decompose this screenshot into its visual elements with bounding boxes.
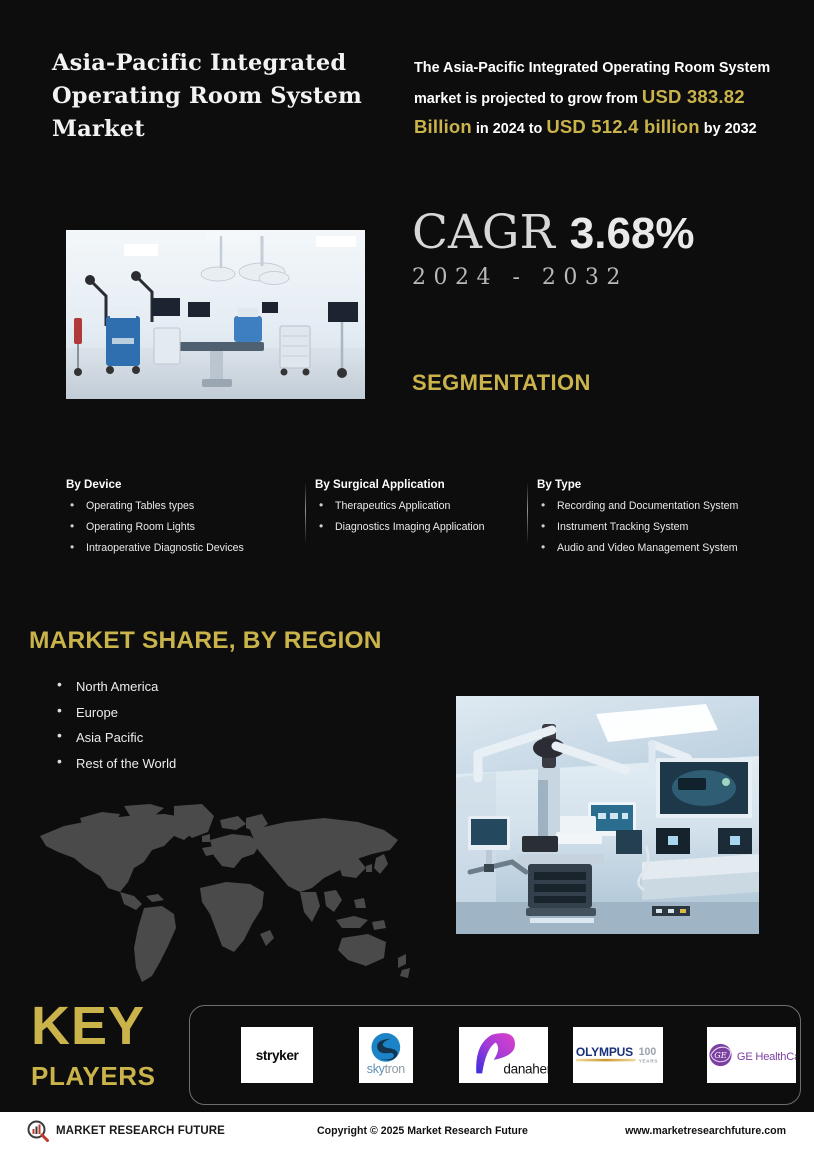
- segment-heading: By Device: [66, 478, 306, 491]
- market-share-title: MARKET SHARE, BY REGION: [29, 627, 382, 655]
- svg-text:skytron: skytron: [367, 1062, 405, 1076]
- world-map: [24, 796, 438, 984]
- footer-url[interactable]: www.marketresearchfuture.com: [625, 1125, 786, 1137]
- cagr-label: CAGR: [412, 205, 555, 260]
- key-players-title-line1: KEY: [31, 999, 145, 1053]
- segment-item: Recording and Documentation System: [537, 499, 766, 513]
- segment-item: Audio and Video Management System: [537, 541, 766, 555]
- segmentation-title: SEGMENTATION: [412, 370, 591, 396]
- segment-item: Instrument Tracking System: [537, 520, 766, 534]
- footer-bar: MARKET RESEARCH FUTURE Copyright © 2025 …: [0, 1112, 814, 1150]
- page-title: Asia-Pacific Integrated Operating Room S…: [52, 47, 382, 146]
- footer-brand: MARKET RESEARCH FUTURE: [27, 1120, 317, 1142]
- cagr-line: CAGR 3.68%: [412, 206, 695, 261]
- region-item: Asia Pacific: [52, 730, 176, 745]
- segment-heading: By Type: [537, 478, 766, 491]
- segment-item: Intraoperative Diagnostic Devices: [66, 541, 306, 555]
- key-players-title-line2: PLAYERS: [31, 1062, 156, 1090]
- footer-brand-text: MARKET RESEARCH FUTURE: [56, 1125, 225, 1137]
- segmentation-column-surgical-application: By Surgical Application Therapeutics App…: [306, 478, 528, 562]
- region-item: Europe: [52, 705, 176, 720]
- segment-heading: By Surgical Application: [315, 478, 528, 491]
- key-players-logo-strip: stryker skytron danaher.: [196, 1027, 796, 1083]
- svg-text:GE HealthCare: GE HealthCare: [737, 1051, 796, 1063]
- segmentation-columns: By Device Operating Tables types Operati…: [66, 478, 766, 562]
- region-item: North America: [52, 679, 176, 694]
- segment-item: Operating Room Lights: [66, 520, 306, 534]
- cagr-block: CAGR 3.68% 2024 - 2032: [412, 206, 695, 290]
- svg-text:GE: GE: [714, 1050, 727, 1060]
- svg-text:100: 100: [638, 1046, 656, 1058]
- segmentation-column-device: By Device Operating Tables types Operati…: [66, 478, 306, 562]
- logo-olympus[interactable]: OLYMPUS 100 YEARS: [573, 1027, 664, 1083]
- operating-room-image: [66, 230, 365, 399]
- svg-text:YEARS: YEARS: [638, 1059, 658, 1065]
- logo-stryker[interactable]: stryker: [241, 1027, 313, 1083]
- integrated-operating-room-image: [456, 696, 759, 934]
- footer-copyright: Copyright © 2025 Market Research Future: [317, 1125, 528, 1137]
- market-value-2032: USD 512.4 billion: [546, 116, 700, 137]
- svg-text:stryker: stryker: [256, 1048, 300, 1063]
- segment-item: Therapeutics Application: [315, 499, 528, 513]
- cagr-value: 3.68%: [570, 209, 695, 258]
- logo-skytron[interactable]: skytron: [359, 1027, 413, 1083]
- region-item: Rest of the World: [52, 756, 176, 771]
- segment-item: Operating Tables types: [66, 499, 306, 513]
- logo-ge-healthcare[interactable]: GE GE HealthCare: [707, 1027, 796, 1083]
- cagr-years: 2024 - 2032: [412, 265, 695, 290]
- segment-item: Diagnostics Imaging Application: [315, 520, 528, 534]
- market-research-future-logo-icon: [27, 1120, 49, 1142]
- logo-danaher[interactable]: danaher.: [459, 1027, 548, 1083]
- segmentation-column-type: By Type Recording and Documentation Syst…: [528, 478, 766, 562]
- svg-text:OLYMPUS: OLYMPUS: [575, 1045, 632, 1059]
- svg-text:danaher.: danaher.: [503, 1061, 547, 1076]
- region-list: North America Europe Asia Pacific Rest o…: [52, 679, 176, 781]
- infographic-poster: Asia-Pacific Integrated Operating Room S…: [0, 0, 814, 1150]
- summary-part-2: in 2024 to: [472, 121, 546, 137]
- market-summary-text: The Asia-Pacific Integrated Operating Ro…: [414, 54, 806, 144]
- summary-part-3: by 2032: [700, 121, 757, 137]
